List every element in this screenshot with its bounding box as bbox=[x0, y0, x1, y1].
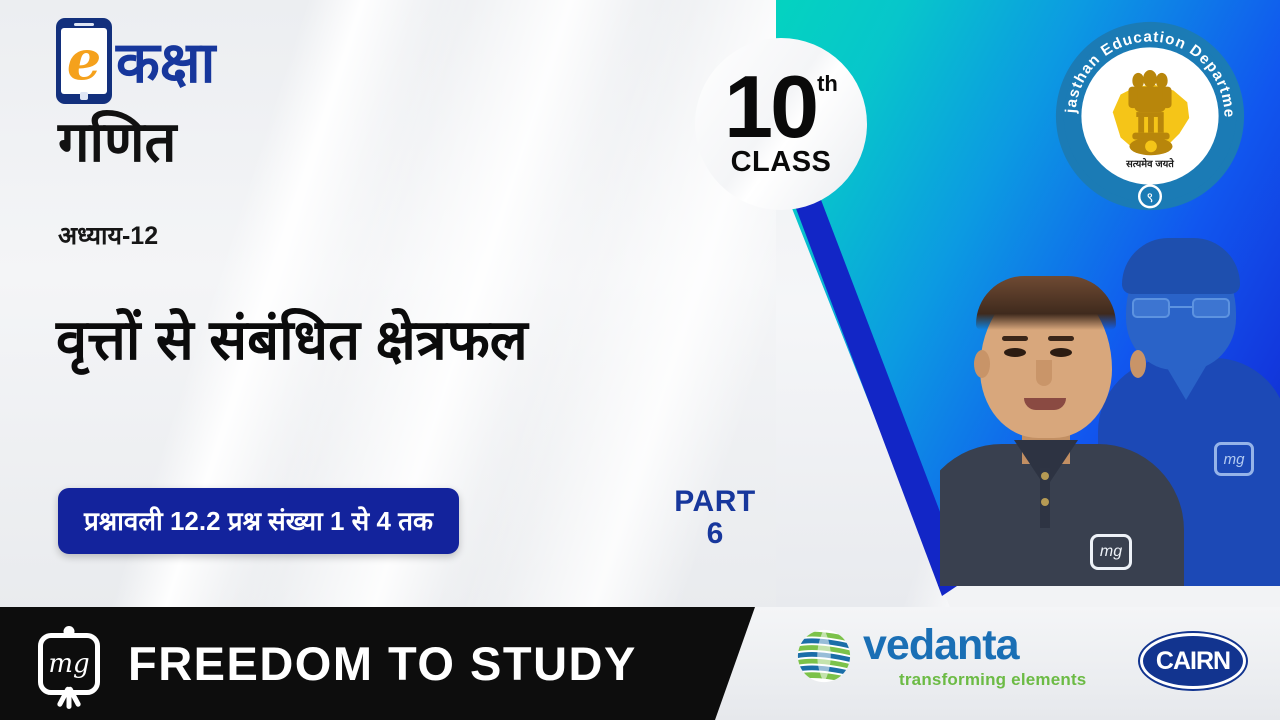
class-badge: 10 th CLASS bbox=[695, 38, 867, 210]
part-indicator: PART 6 bbox=[640, 486, 790, 550]
instructor-front: mg bbox=[944, 272, 1176, 586]
vedanta-globe-icon bbox=[795, 627, 853, 685]
part-number: 6 bbox=[640, 518, 790, 550]
subject-title: गणित bbox=[58, 114, 176, 170]
mg-board-icon: mg bbox=[38, 633, 100, 695]
rajasthan-education-department-emblem: सत्यमेव जयते Rajasthan Education Departm… bbox=[1052, 18, 1248, 214]
shirt-logo-back: mg bbox=[1214, 442, 1254, 476]
chapter-label: अध्याय-12 bbox=[58, 218, 158, 252]
thumbnail-canvas: mg mg 10 th CLASS bbox=[0, 0, 1280, 720]
mg-logo-text: mg bbox=[48, 651, 89, 677]
class-number: 10 bbox=[724, 69, 816, 145]
phone-icon: e bbox=[56, 18, 112, 104]
class-ordinal-suffix: th bbox=[817, 75, 838, 94]
logo-kaksha-word: कक्षा bbox=[116, 35, 215, 92]
instructor-front-hair bbox=[976, 276, 1116, 330]
footer-tagline: FREEDOM TO STUDY bbox=[128, 636, 637, 691]
footer-black-bar: mg FREEDOM TO STUDY bbox=[0, 607, 770, 720]
exercise-badge: प्रश्नावली 12.2 प्रश्न संख्या 1 से 4 तक bbox=[58, 488, 459, 554]
svg-text:९: ९ bbox=[1146, 190, 1153, 206]
cairn-name: CAIRN bbox=[1156, 647, 1230, 676]
vedanta-logo: vedanta transforming elements bbox=[795, 624, 1086, 688]
cairn-logo: CAIRN bbox=[1140, 633, 1246, 689]
part-label: PART bbox=[640, 486, 790, 518]
vedanta-name: vedanta bbox=[863, 621, 1019, 669]
instructor-front-shirt bbox=[940, 444, 1184, 586]
vedanta-tagline: transforming elements bbox=[899, 671, 1086, 688]
logo-e-letter: e bbox=[67, 33, 101, 87]
instructor-photos: mg mg bbox=[940, 230, 1280, 586]
topic-title: वृत्तों से संबंधित क्षेत्रफल bbox=[56, 308, 528, 372]
ekaksha-logo: e कक्षा bbox=[56, 18, 215, 104]
emblem-motto: सत्यमेव जयते bbox=[1125, 158, 1174, 170]
shirt-logo-front: mg bbox=[1090, 534, 1132, 570]
